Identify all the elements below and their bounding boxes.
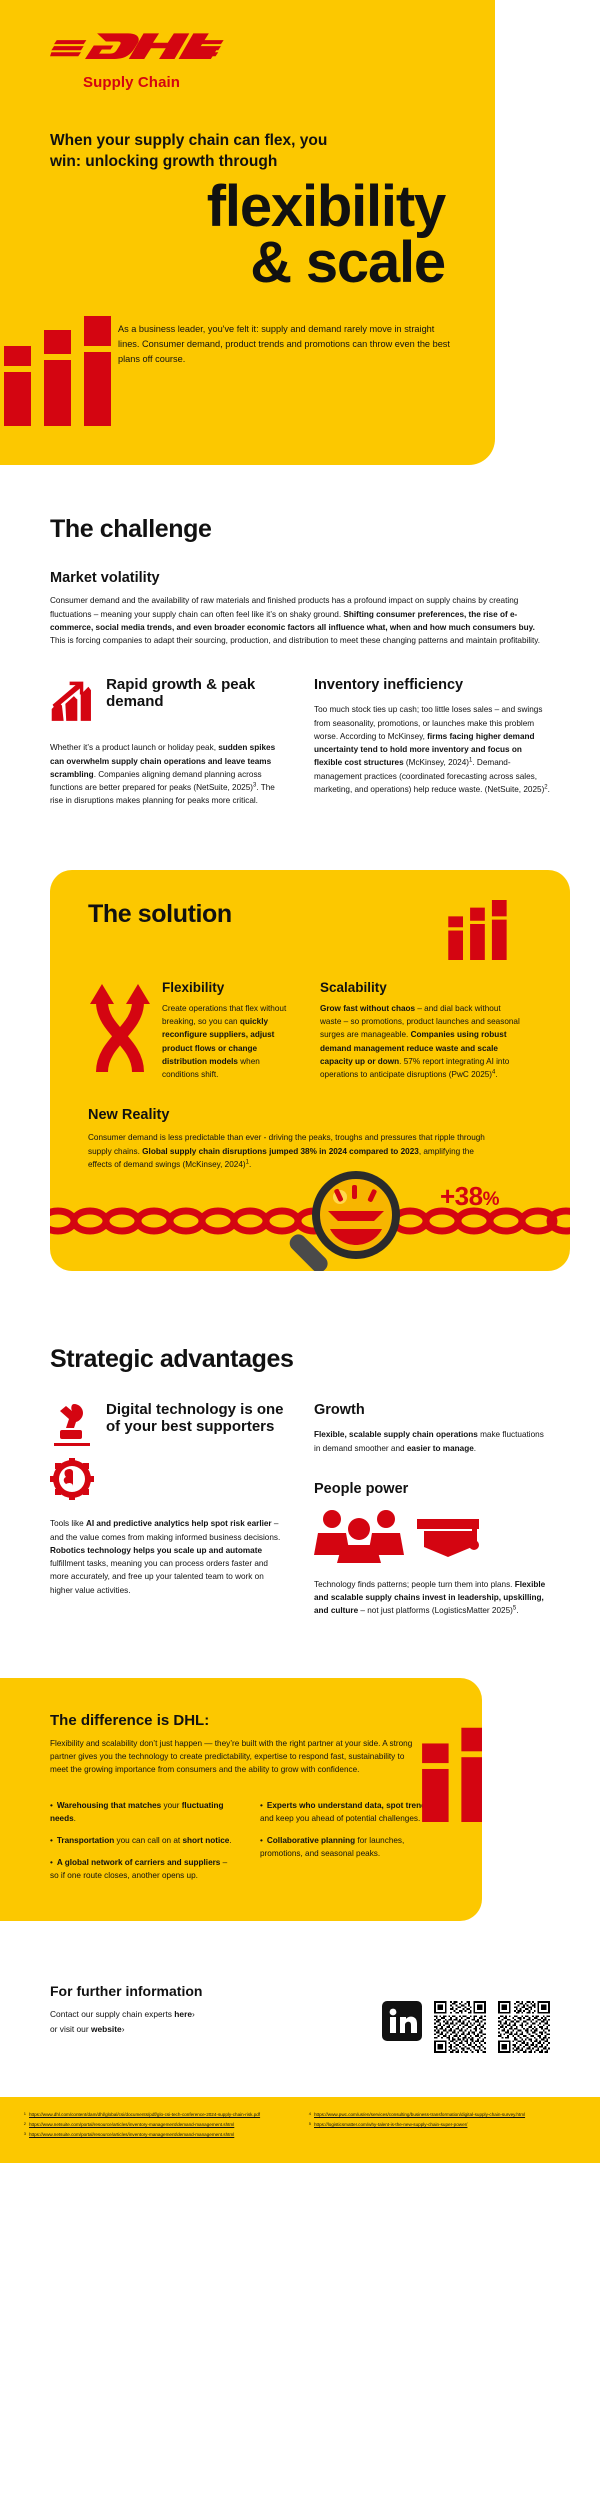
infographic-page: Supply Chain When your supply chain can … [0, 0, 600, 2513]
scal-e: . [495, 1070, 497, 1079]
hero-kicker: When your supply chain can flex, you win… [0, 131, 360, 173]
list-item: 1 https://www.dhl.com/content/dam/dhl/gl… [22, 2111, 293, 2118]
rapid-growth-paragraph: Whether it’s a product launch or holiday… [50, 741, 286, 807]
digital-technology-title: Digital technology is one of your best s… [106, 1402, 286, 1436]
dig-e: fulfillment tasks, meaning you can proce… [50, 1559, 268, 1595]
footnote-number: 2 [22, 2121, 29, 2128]
footnotes-bar: 1 https://www.dhl.com/content/dam/dhl/gl… [0, 2097, 600, 2163]
market-volatility-paragraph: Consumer demand and the availability of … [50, 594, 550, 647]
inventory-paragraph: Too much stock ties up cash; too little … [314, 703, 550, 796]
mv-text-tail: This is forcing companies to adapt their… [50, 636, 540, 645]
advantages-section: Strategic advantages [0, 1345, 600, 1617]
challenge-section: The challenge Market volatility Consumer… [0, 515, 600, 808]
flexibility-paragraph: Create operations that flex without brea… [162, 1002, 292, 1082]
list-item: Warehousing that matches your fluctuatin… [50, 1799, 232, 1825]
nr-d: . [249, 1160, 251, 1169]
footer-contact-lines: Contact our supply chain experts here› o… [50, 2007, 368, 2036]
bl0-bold: Warehousing that matches [57, 1801, 161, 1810]
difference-heading: The difference is DHL: [50, 1712, 442, 1729]
br0-bold: Experts who understand data, spot trends [267, 1801, 431, 1810]
scalability-paragraph: Grow fast without chaos – and dial back … [320, 1002, 524, 1082]
people-power-title: People power [314, 1481, 550, 1497]
brain-gear-icon [50, 1458, 94, 1500]
list-item: A global network of carriers and supplie… [50, 1856, 232, 1882]
footnote-number: 3 [22, 2131, 29, 2138]
footer-heading: For further information [50, 1983, 368, 1999]
footnote-number: 4 [307, 2111, 314, 2118]
market-volatility-title: Market volatility [50, 570, 550, 586]
chain-illustration: +38% [50, 1185, 570, 1245]
bar-chart-icon [444, 900, 518, 960]
people-power-paragraph: Technology finds patterns; people turn t… [314, 1578, 550, 1618]
footnote-number: 1 [22, 2111, 29, 2118]
bl0-rest: your [161, 1801, 181, 1810]
scalability-title: Scalability [320, 980, 524, 995]
rapid-growth-card: Rapid growth & peak demand Whether it’s … [50, 677, 286, 807]
footer-section: For further information Contact our supp… [0, 1983, 600, 2053]
growth-paragraph: Flexible, scalable supply chain operatio… [314, 1428, 550, 1455]
inventory-title: Inventory inefficiency [314, 677, 550, 693]
inv-c: (McKinsey, 2024) [404, 758, 469, 767]
growth-title: Growth [314, 1402, 550, 1418]
footnote-link[interactable]: https://www.netsuite.com/portal/resource… [29, 2121, 234, 2128]
footnotes-right-column: 4 https://www.pwc.com/us/en/services/con… [307, 2111, 578, 2141]
growth-chart-arrow-icon [50, 677, 96, 729]
qr-code-icon[interactable] [498, 2001, 550, 2053]
stat-value: +38 [440, 1181, 483, 1211]
qr-code-icon[interactable] [434, 2001, 486, 2053]
digital-technology-card: Digital technology is one of your best s… [50, 1402, 286, 1617]
footnote-link[interactable]: https://www.dhl.com/content/dam/dhl/glob… [29, 2111, 260, 2118]
nr-b: Global supply chain disruptions jumped 3… [142, 1147, 419, 1156]
new-reality-paragraph: Consumer demand is less predictable than… [88, 1131, 488, 1171]
footnote-number: 5 [307, 2121, 314, 2128]
dhl-difference-panel: The difference is DHL: Flexibility and s… [0, 1678, 482, 1921]
bl0-tail: . [74, 1814, 76, 1823]
gro-c: easier to manage [407, 1444, 474, 1453]
contact-here-link[interactable]: here [174, 2009, 192, 2019]
ppl-d: . [516, 1606, 518, 1615]
challenge-heading: The challenge [50, 515, 550, 544]
dig-d: Robotics technology helps you scale up a… [50, 1546, 262, 1555]
list-item: 2 https://www.netsuite.com/portal/resour… [22, 2121, 293, 2128]
scal-a: Grow fast without chaos [320, 1004, 415, 1013]
stat-badge: +38% [440, 1181, 499, 1212]
footnote-link[interactable]: https://logisticsmatter.com/why-talent-i… [314, 2121, 467, 2128]
hero-title: flexibility & scale [0, 179, 495, 290]
solution-panel: The solution [50, 870, 570, 1272]
f-l1arrow[interactable]: › [192, 2009, 195, 2019]
scalability-card: Scalability Grow fast without chaos – an… [320, 980, 524, 1082]
bl2-bold: A global network of carriers and supplie… [57, 1858, 221, 1867]
hero-title-line-1: flexibility [0, 179, 445, 235]
gro-d: . [474, 1444, 476, 1453]
difference-intro: Flexibility and scalability don’t just h… [50, 1737, 420, 1777]
bl1-bold: Transportation [57, 1836, 114, 1845]
flexibility-title: Flexibility [162, 980, 292, 995]
f-l1a: Contact our supply chain experts [50, 2009, 174, 2019]
list-item: 4 https://www.pwc.com/us/en/services/con… [307, 2111, 578, 2118]
list-item: Collaborative planning for launches, pro… [260, 1834, 442, 1860]
dhl-difference-bar-chart [422, 1714, 482, 1827]
gro-a: Flexible, scalable supply chain operatio… [314, 1430, 478, 1439]
footnotes-left-column: 1 https://www.dhl.com/content/dam/dhl/gl… [22, 2111, 293, 2141]
ppl-a: Technology finds patterns; people turn t… [314, 1580, 515, 1589]
bar-chart-icon [422, 1714, 482, 1822]
list-item: Experts who understand data, spot trends… [260, 1799, 442, 1825]
list-item: Transportation you can call on at short … [50, 1834, 232, 1847]
dig-b: AI and predictive analytics help spot ri… [86, 1519, 272, 1528]
advantages-heading: Strategic advantages [50, 1345, 550, 1374]
bl1-tail: . [229, 1836, 231, 1845]
dhl-logo-icon [50, 28, 225, 67]
hero-section: Supply Chain When your supply chain can … [0, 0, 495, 465]
magnifying-glass-icon [278, 1171, 418, 1271]
website-link[interactable]: website [91, 2024, 122, 2034]
inv-e: . [548, 785, 550, 794]
people-graduation-icon [314, 1507, 480, 1563]
list-item: 3 https://www.netsuite.com/portal/resour… [22, 2131, 293, 2138]
inventory-inefficiency-card: Inventory inefficiency Too much stock ti… [314, 677, 550, 807]
difference-bullets-left: Warehousing that matches your fluctuatin… [50, 1799, 232, 1892]
brand-subtitle: Supply Chain [50, 74, 495, 91]
f-l2a: or visit our [50, 2024, 91, 2034]
solution-heading: The solution [88, 900, 232, 929]
stat-unit: % [483, 1189, 499, 1210]
hero-title-line-2: & scale [0, 235, 445, 291]
growth-people-column: Growth Flexible, scalable supply chain o… [314, 1402, 550, 1617]
ppl-c: – not just platforms (LogisticsMatter 20… [358, 1606, 513, 1615]
bar-chart-icon [4, 316, 124, 426]
new-reality-title: New Reality [88, 1107, 524, 1123]
difference-bullets-right: Experts who understand data, spot trends… [260, 1799, 442, 1892]
bl1-bold2: short notice [182, 1836, 229, 1845]
dig-a: Tools like [50, 1519, 86, 1528]
bl1-rest: you can call on at [114, 1836, 182, 1845]
digital-technology-paragraph: Tools like AI and predictive analytics h… [50, 1517, 286, 1597]
crossing-arrows-icon [88, 980, 152, 1076]
hero-intro-paragraph: As a business leader, you've felt it: su… [118, 316, 495, 367]
f-l2arrow[interactable]: › [122, 2024, 125, 2034]
dhl-logo-block: Supply Chain [0, 28, 495, 91]
rg-a: Whether it’s a product launch or holiday… [50, 743, 218, 752]
rapid-growth-title: Rapid growth & peak demand [106, 677, 286, 711]
list-item: 5 https://logisticsmatter.com/why-talent… [307, 2121, 578, 2128]
linkedin-icon[interactable] [382, 2001, 422, 2041]
footnote-link[interactable]: https://www.pwc.com/us/en/services/consu… [314, 2111, 525, 2118]
hero-bar-chart [0, 316, 118, 431]
footnote-link[interactable]: https://www.netsuite.com/portal/resource… [29, 2131, 234, 2138]
br1-bold: Collaborative planning [267, 1836, 355, 1845]
flexibility-card: Flexibility Create operations that flex … [88, 980, 292, 1082]
robot-arm-icon [50, 1402, 94, 1450]
